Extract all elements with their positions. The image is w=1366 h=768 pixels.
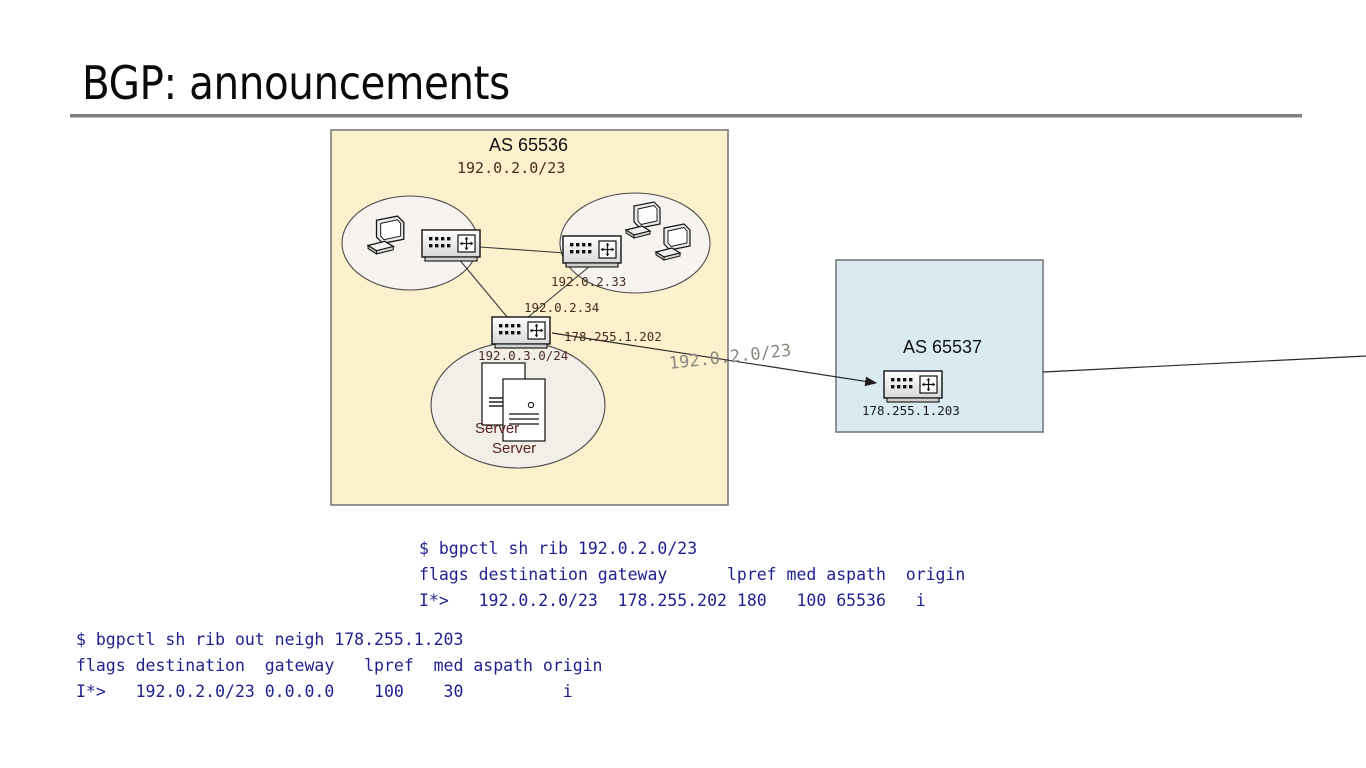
announcement-route-label: 192.0.2.0/23 bbox=[668, 341, 792, 374]
server-label: Server bbox=[492, 440, 536, 457]
cloud-left bbox=[342, 196, 478, 290]
network-switch-icon bbox=[492, 317, 550, 348]
servers-prefix-label: 192.0.3.0/24 bbox=[478, 348, 568, 363]
link-left-right bbox=[480, 247, 565, 253]
server-label: Server bbox=[475, 420, 519, 437]
workstation-icon bbox=[656, 224, 690, 260]
network-switch-icon bbox=[422, 230, 480, 261]
link-left-center bbox=[458, 258, 508, 318]
network-switch-icon bbox=[884, 371, 942, 402]
server-icon bbox=[482, 363, 525, 425]
ip-label-switch-center-ext: 178.255.1.202 bbox=[564, 329, 662, 344]
ip-label-switch-center-top: 192.0.2.34 bbox=[524, 300, 599, 315]
link-offscreen bbox=[1043, 356, 1366, 372]
as-65536-prefix: 192.0.2.0/23 bbox=[457, 159, 565, 177]
page-title: BGP: announcements bbox=[82, 56, 510, 110]
as-65537-title: AS 65537 bbox=[903, 337, 982, 358]
workstation-icon bbox=[626, 202, 660, 238]
ip-label-switch-right: 192.0.2.33 bbox=[551, 274, 626, 289]
workstation-icon bbox=[368, 216, 404, 254]
terminal-output-rib: $ bgpctl sh rib 192.0.2.0/23 flags desti… bbox=[419, 536, 965, 614]
terminal-output-rib-out: $ bgpctl sh rib out neigh 178.255.1.203 … bbox=[76, 627, 603, 705]
slide-canvas: BGP: announcements bbox=[0, 0, 1366, 768]
as-65536-title: AS 65536 bbox=[489, 135, 568, 156]
network-switch-icon bbox=[563, 236, 621, 267]
title-divider bbox=[70, 114, 1302, 118]
as-65537-router-ip: 178.255.1.203 bbox=[862, 403, 960, 418]
